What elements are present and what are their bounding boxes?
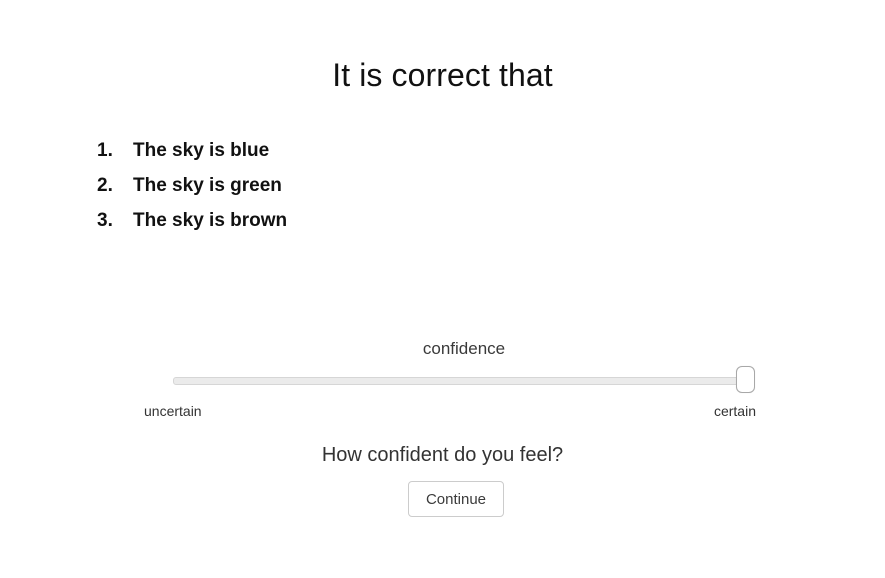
- slider-caption: confidence: [173, 338, 755, 360]
- continue-button[interactable]: Continue: [408, 481, 504, 517]
- slider-track[interactable]: [173, 377, 755, 385]
- confidence-slider-block: confidence uncertain certain: [173, 338, 755, 421]
- list-item-marker: 2.: [97, 168, 133, 203]
- list-item: 2. The sky is green: [97, 168, 287, 203]
- list-item-label: The sky is green: [133, 168, 282, 203]
- list-item-marker: 3.: [97, 203, 133, 238]
- slider-min-label: uncertain: [144, 401, 202, 421]
- list-item-label: The sky is brown: [133, 203, 287, 238]
- list-item: 3. The sky is brown: [97, 203, 287, 238]
- slider-max-label: certain: [714, 401, 756, 421]
- page-title: It is correct that: [0, 54, 885, 96]
- slider-thumb[interactable]: [736, 366, 755, 393]
- confidence-prompt: How confident do you feel?: [0, 441, 885, 469]
- options-list: 1. The sky is blue 2. The sky is green 3…: [97, 133, 287, 238]
- list-item: 1. The sky is blue: [97, 133, 287, 168]
- survey-page: It is correct that 1. The sky is blue 2.…: [0, 0, 885, 578]
- slider-endpoint-labels: uncertain certain: [173, 401, 755, 421]
- confidence-slider[interactable]: [173, 366, 755, 396]
- list-item-label: The sky is blue: [133, 133, 269, 168]
- list-item-marker: 1.: [97, 133, 133, 168]
